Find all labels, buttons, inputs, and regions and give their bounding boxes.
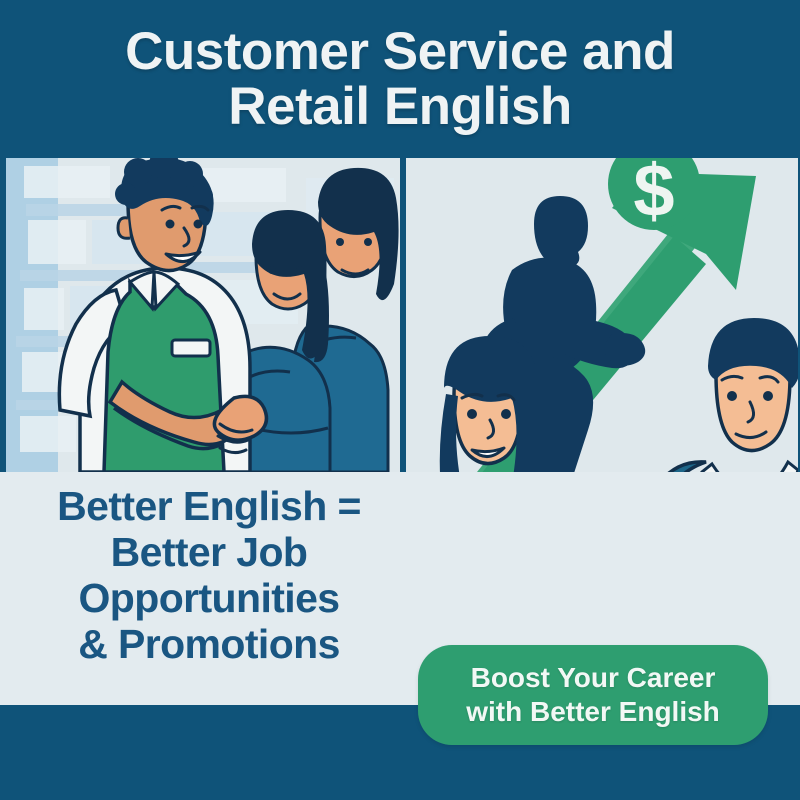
- headline-line2: Better Job: [18, 530, 400, 576]
- headline-line1: Better English =: [18, 484, 400, 530]
- svg-text:$: $: [633, 158, 674, 232]
- page-title-line2: Retail English: [228, 79, 571, 134]
- cta-line1: Boost Your Career: [471, 661, 716, 695]
- cta-line2: with Better English: [466, 695, 720, 729]
- poster-header: Customer Service and Retail English: [0, 0, 800, 158]
- poster-root: Customer Service and Retail English: [0, 0, 800, 800]
- name-badge: [172, 340, 210, 356]
- page-title-line1: Customer Service and: [125, 24, 675, 79]
- headline-line4: & Promotions: [18, 622, 400, 668]
- boost-career-cta-button[interactable]: Boost Your Career with Better English: [418, 645, 768, 745]
- headline-text: Better English = Better Job Opportunitie…: [18, 484, 400, 668]
- retail-scene-panel: [6, 158, 400, 472]
- headline-line3: Opportunities: [18, 576, 400, 622]
- retail-scene-illustration: [6, 158, 400, 472]
